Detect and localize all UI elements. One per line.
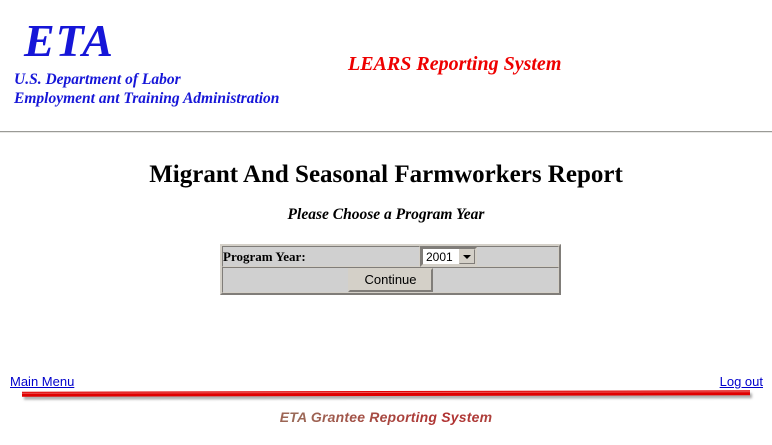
page-header: ETA U.S. Department of Labor Employment …: [0, 0, 772, 128]
submit-cell: Continue: [222, 267, 559, 293]
program-year-label: Program Year:: [222, 246, 420, 267]
program-year-selected-value: 2001: [426, 250, 453, 264]
red-divider-bar: [22, 390, 750, 397]
continue-button[interactable]: Continue: [348, 268, 432, 292]
agency-line-1: U.S. Department of Labor: [14, 70, 279, 89]
eta-logo: ETA: [24, 18, 114, 64]
program-year-form: Program Year: 2001 Continue: [220, 244, 561, 295]
red-bar-highlight: [22, 391, 750, 394]
page-subtitle: Please Choose a Program Year: [0, 206, 772, 224]
footer-banner-text: ETA Grantee Reporting System: [0, 409, 772, 425]
main-menu-link[interactable]: Main Menu: [10, 374, 74, 389]
system-title: LEARS Reporting System: [348, 53, 561, 76]
agency-name: U.S. Department of Labor Employment ant …: [14, 70, 279, 108]
page-title: Migrant And Seasonal Farmworkers Report: [0, 161, 772, 189]
log-out-link[interactable]: Log out: [720, 374, 763, 389]
program-year-field-cell: 2001: [420, 246, 559, 267]
header-divider: [0, 131, 772, 133]
program-year-row: Program Year: 2001: [222, 246, 559, 267]
submit-row: Continue: [222, 267, 559, 293]
program-year-select[interactable]: 2001: [421, 247, 477, 266]
agency-line-2: Employment ant Training Administration: [14, 89, 279, 108]
chevron-down-icon[interactable]: [459, 249, 475, 264]
